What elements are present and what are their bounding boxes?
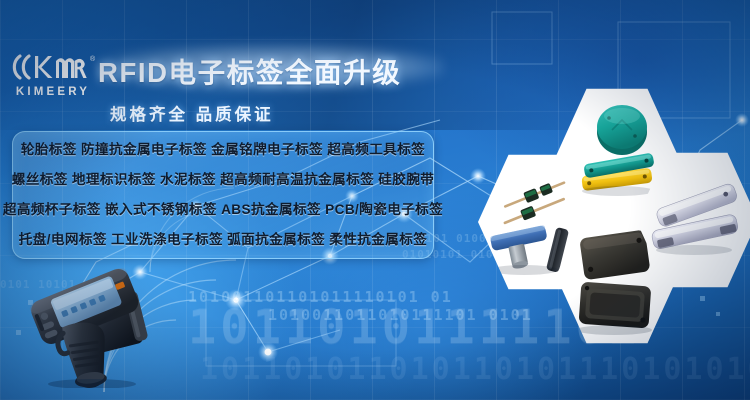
product-category-row: 螺丝标签 地理标识标签 水泥标签 超高频耐高温抗金属标签 硅胶腕带 <box>12 165 435 195</box>
product-category-row: 超高频杯子标签 嵌入式不锈钢标签 ABS抗金属标签 PCB/陶瓷电子标签 <box>3 195 443 225</box>
kmr-logo-icon: ® <box>10 52 96 82</box>
product-category-panel: 轮胎标签 防撞抗金属电子标签 金属铭牌电子标签 超高频工具标签 螺丝标签 地理标… <box>12 131 434 259</box>
rfid-promo-banner: 10110101111101 1011010110101101011101010… <box>0 0 750 400</box>
kimeery-logo[interactable]: ® KIMEERY <box>10 52 96 106</box>
page-title: RFID电子标签全面升级 <box>98 50 442 86</box>
registered-symbol: ® <box>90 55 96 63</box>
binary-decoration-small-2: 1010011011010111101 0101 <box>268 306 533 324</box>
page-subtitle: 规格齐全 品质保证 <box>110 101 274 125</box>
binary-decoration-small-1: 101001101101011110101 01 <box>188 288 453 306</box>
handheld-rfid-reader-device[interactable] <box>22 268 162 388</box>
logo-brand-name: KIMEERY <box>10 86 96 98</box>
handheld-reader-graphic <box>22 268 162 388</box>
product-category-row: 托盘/电网标签 工业洗涤电子标签 弧面抗金属标签 柔性抗金属标签 <box>19 225 428 255</box>
product-category-row: 轮胎标签 防撞抗金属电子标签 金属铭牌电子标签 超高频工具标签 <box>21 135 425 165</box>
binary-decoration-large-2: 1011010110101101011101010101 <box>200 352 750 387</box>
kmr-logo-mark: ® <box>10 52 96 82</box>
